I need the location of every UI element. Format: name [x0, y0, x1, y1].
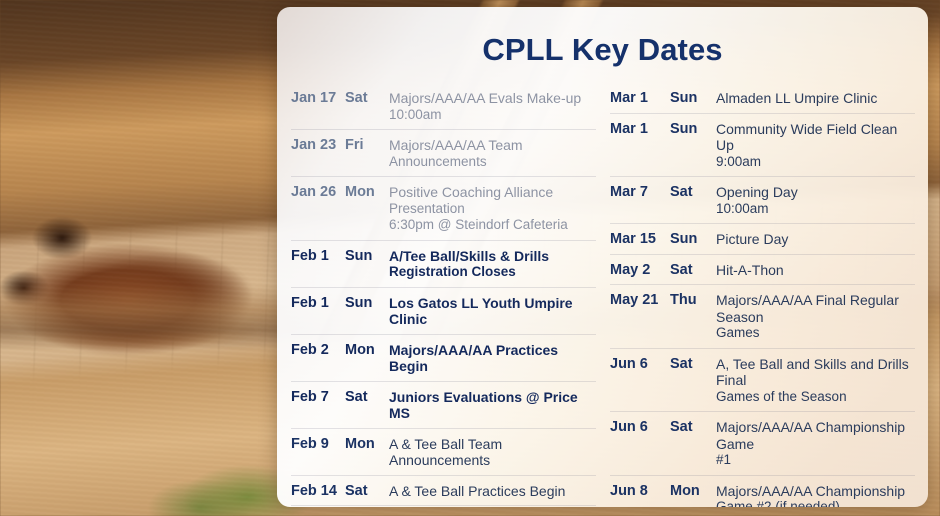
event-line-1: Hit-A-Thon [716, 262, 915, 279]
event-description: Juniors Evaluations @ Price MS [389, 389, 596, 422]
day-of-week-label: Sat [345, 483, 389, 499]
event-description: A, Tee Ball and Skills and Drills FinalG… [716, 356, 915, 406]
date-label: Jun 6 [610, 419, 670, 435]
date-row: Feb 9MonA & Tee Ball Team Announcements [291, 429, 596, 476]
event-line-1: Majors/AAA/AA Final Regular Season [716, 292, 915, 325]
date-label: Feb 2 [291, 342, 345, 358]
event-line-2: Games [716, 325, 915, 342]
key-dates-card: CPLL Key Dates Jan 17SatMajors/AAA/AA Ev… [277, 7, 928, 507]
date-row: Mar 1SunAlmaden LL Umpire Clinic [610, 83, 915, 114]
event-line-2: 10:00am [389, 107, 596, 124]
event-description: A/Tee Ball/Skills & DrillsRegistration C… [389, 248, 596, 281]
date-label: Jan 26 [291, 184, 345, 200]
dates-columns: Jan 17SatMajors/AAA/AA Evals Make-up10:0… [277, 68, 928, 507]
date-row: Jun 6SatA, Tee Ball and Skills and Drill… [610, 349, 915, 413]
day-of-week-label: Sat [345, 389, 389, 405]
event-description: Hit-A-Thon [716, 262, 915, 279]
event-description: Majors/AAA/AA TeamAnnouncements [389, 137, 596, 170]
day-of-week-label: Sat [670, 184, 716, 200]
date-row: Feb 14SatA & Tee Ball Practices Begin [291, 476, 596, 507]
event-description: A & Tee Ball Team Announcements [389, 436, 596, 469]
event-line-2: Game #2 (if needed) [716, 499, 915, 507]
date-label: May 2 [610, 262, 670, 278]
day-of-week-label: Fri [345, 137, 389, 153]
date-row: Feb 7SatJuniors Evaluations @ Price MS [291, 382, 596, 429]
day-of-week-label: Sun [345, 295, 389, 311]
day-of-week-label: Sat [670, 356, 716, 372]
event-description: Majors/AAA/AA Practices Begin [389, 342, 596, 375]
date-label: Jun 6 [610, 356, 670, 372]
date-row: Mar 7SatOpening Day10:00am [610, 177, 915, 224]
event-line-2: 10:00am [716, 201, 915, 218]
date-row: Jan 23FriMajors/AAA/AA TeamAnnouncements [291, 130, 596, 177]
day-of-week-label: Thu [670, 292, 716, 308]
event-line-2: 9:00am [716, 154, 915, 171]
event-line-1: Majors/AAA/AA Championship [716, 483, 915, 500]
date-label: Jan 23 [291, 137, 345, 153]
date-label: Mar 1 [610, 121, 670, 137]
date-row: Mar 15SunPicture Day [610, 224, 915, 255]
day-of-week-label: Mon [345, 436, 389, 452]
event-description: Majors/AAA/AA Evals Make-up10:00am [389, 90, 596, 123]
event-line-1: Majors/AAA/AA Evals Make-up [389, 90, 596, 107]
event-description: A & Tee Ball Practices Begin [389, 483, 596, 500]
event-description: Majors/AAA/AA Championship Game#1 [716, 419, 915, 469]
date-row: Jan 17SatMajors/AAA/AA Evals Make-up10:0… [291, 83, 596, 130]
event-line-1: Almaden LL Umpire Clinic [716, 90, 915, 107]
date-label: Feb 7 [291, 389, 345, 405]
date-row: May 2SatHit-A-Thon [610, 255, 915, 286]
event-description: Positive Coaching AlliancePresentation6:… [389, 184, 596, 234]
event-description: Los Gatos LL Youth Umpire Clinic [389, 295, 596, 328]
day-of-week-label: Sun [670, 121, 716, 137]
day-of-week-label: Mon [670, 483, 716, 499]
right-date-column: Mar 1SunAlmaden LL Umpire ClinicMar 1Sun… [610, 83, 915, 507]
date-label: Feb 9 [291, 436, 345, 452]
event-line-1: Community Wide Field Clean Up [716, 121, 915, 154]
day-of-week-label: Sun [670, 90, 716, 106]
event-description: Almaden LL Umpire Clinic [716, 90, 915, 107]
event-line-2: Registration Closes [389, 264, 596, 281]
date-row: May 21ThuMajors/AAA/AA Final Regular Sea… [610, 285, 915, 349]
date-label: Mar 7 [610, 184, 670, 200]
event-line-2: Games of the Season [716, 389, 915, 406]
date-row: Jun 6SatMajors/AAA/AA Championship Game#… [610, 412, 915, 476]
event-description: Majors/AAA/AA Final Regular SeasonGames [716, 292, 915, 342]
event-line-2: Announcements [389, 154, 596, 171]
date-label: Feb 14 [291, 483, 345, 499]
date-label: Mar 15 [610, 231, 670, 247]
event-line-1: Los Gatos LL Youth Umpire Clinic [389, 295, 596, 328]
date-row: Mar 1SunCommunity Wide Field Clean Up9:0… [610, 114, 915, 178]
date-row: Jan 26MonPositive Coaching AlliancePrese… [291, 177, 596, 241]
event-line-1: Positive Coaching Alliance [389, 184, 596, 201]
day-of-week-label: Sat [670, 262, 716, 278]
day-of-week-label: Sun [670, 231, 716, 247]
event-line-1: Majors/AAA/AA Team [389, 137, 596, 154]
date-label: May 21 [610, 292, 670, 308]
event-description: Picture Day [716, 231, 915, 248]
date-label: Feb 1 [291, 248, 345, 264]
date-label: Jun 8 [610, 483, 670, 499]
event-line-1: Majors/AAA/AA Championship Game [716, 419, 915, 452]
date-row: Feb 2MonMajors/AAA/AA Practices Begin [291, 335, 596, 382]
day-of-week-label: Sat [345, 90, 389, 106]
event-line-1: A & Tee Ball Practices Begin [389, 483, 596, 500]
date-row: Feb 1SunLos Gatos LL Youth Umpire Clinic [291, 288, 596, 335]
event-description: Opening Day10:00am [716, 184, 915, 217]
day-of-week-label: Mon [345, 342, 389, 358]
left-date-column: Jan 17SatMajors/AAA/AA Evals Make-up10:0… [291, 83, 596, 507]
date-row: Feb 1SunA/Tee Ball/Skills & DrillsRegist… [291, 241, 596, 288]
event-line-1: A, Tee Ball and Skills and Drills Final [716, 356, 915, 389]
event-line-1: A & Tee Ball Team Announcements [389, 436, 596, 469]
event-line-1: A/Tee Ball/Skills & Drills [389, 248, 596, 265]
event-description: Majors/AAA/AA ChampionshipGame #2 (if ne… [716, 483, 915, 508]
date-row: Feb 28SatCambrian Park LL Umpire Clinic9… [291, 506, 596, 507]
day-of-week-label: Sun [345, 248, 389, 264]
day-of-week-label: Mon [345, 184, 389, 200]
event-line-3: 6:30pm @ Steindorf Cafeteria [389, 217, 596, 234]
date-label: Jan 17 [291, 90, 345, 106]
page-title: CPLL Key Dates [277, 7, 928, 68]
date-label: Mar 1 [610, 90, 670, 106]
event-line-1: Majors/AAA/AA Practices Begin [389, 342, 596, 375]
date-label: Feb 1 [291, 295, 345, 311]
event-line-1: Juniors Evaluations @ Price MS [389, 389, 596, 422]
event-line-2: Presentation [389, 201, 596, 218]
date-row: Jun 8MonMajors/AAA/AA ChampionshipGame #… [610, 476, 915, 508]
event-line-1: Picture Day [716, 231, 915, 248]
event-line-2: #1 [716, 452, 915, 469]
day-of-week-label: Sat [670, 419, 716, 435]
event-description: Community Wide Field Clean Up9:00am [716, 121, 915, 171]
event-line-1: Opening Day [716, 184, 915, 201]
